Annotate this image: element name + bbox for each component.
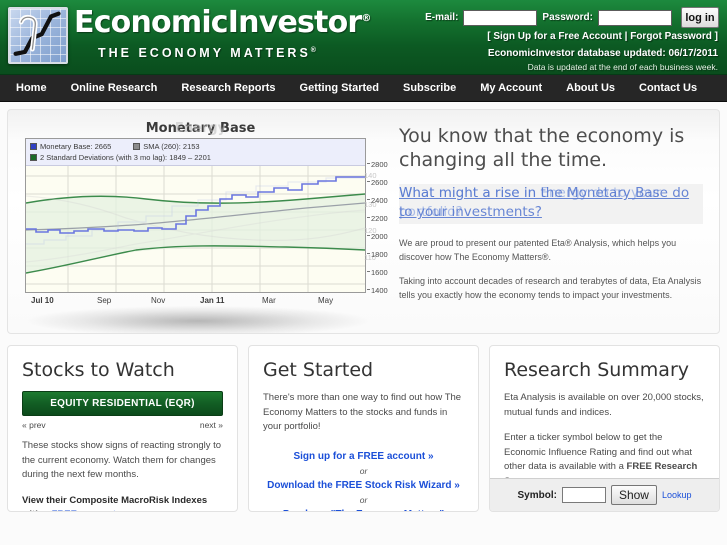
xtick-may: May [318,296,333,305]
ticker-button-eqr[interactable]: EQUITY RESIDENTIAL (EQR) [22,391,223,416]
site-header: EconomicInvestor® THE ECONOMY MATTERS® E… [0,0,727,75]
nav-item-research-reports[interactable]: Research Reports [169,75,287,102]
chart-y-axis: 2800 2600 2400 2200 2000 1800 1600 1400 [367,138,395,295]
password-label: Password: [542,12,593,23]
chart-svg [26,166,365,292]
next-ticker-link[interactable]: next » [200,420,223,430]
login-form: E-mail: Password: log in [425,7,719,28]
free-account-link[interactable]: FREE account [52,509,116,512]
nav-item-online-research[interactable]: Online Research [59,75,170,102]
xtick-mar: Mar [262,296,276,305]
signup-free-account-link[interactable]: Sign up for a FREE account » [263,449,464,464]
card-get-started: Get Started There's more than one way to… [248,345,479,512]
brand-tagline: THE ECONOMY MATTERS® [98,46,371,60]
symbol-input[interactable] [562,487,606,503]
hero-subhead-current[interactable]: What might a rise in the Monetary Base d… [399,184,703,222]
ytick-1800: 1800 [371,250,388,259]
chart-reflection-shadow [28,306,368,334]
legend-swatch-sma-icon [133,143,140,150]
hero-paragraph-1: We are proud to present our patented Eta… [399,236,703,264]
legend-swatch-monetary-base-icon [30,143,37,150]
get-started-cta-list: Sign up for a FREE account » or Download… [263,449,464,513]
legend-label-monetary-base: Monetary Base: 2665 [40,141,111,152]
update-frequency-note: Data is updated at the end of each busin… [528,62,718,72]
brand[interactable]: EconomicInvestor® THE ECONOMY MATTERS® [74,2,371,60]
ytick-2000: 2000 [371,232,388,241]
hero-paragraph-2: Taking into account decades of research … [399,274,703,302]
chart-plot-area [26,166,365,292]
nav-item-about-us[interactable]: About Us [554,75,627,102]
nav-item-getting-started[interactable]: Getting Started [288,75,391,102]
get-started-title: Get Started [263,359,464,381]
hero-headline: You know that the economy is changing al… [399,124,703,172]
tagline-registered-mark: ® [311,47,316,54]
brand-name-text: EconomicInvestor [74,5,361,40]
hero-subhead-rotator[interactable]: What might a rise in Energy do to your p… [399,184,703,224]
hero-chart-area: Energy Monetary Base Monetary Base: 2665… [8,110,393,333]
prev-ticker-link[interactable]: « prev [22,420,46,430]
card-row: Stocks to Watch EQUITY RESIDENTIAL (EQR)… [7,345,720,512]
xtick-sep: Sep [97,296,111,305]
card-stocks-to-watch: Stocks to Watch EQUITY RESIDENTIAL (EQR)… [7,345,238,512]
or-separator-1: or [263,464,464,478]
research-summary-title: Research Summary [504,359,705,381]
legend-swatch-stddev-icon [30,154,37,161]
ytick-1600: 1600 [371,268,388,277]
symbol-lookup-bar: Symbol: Show Lookup [490,478,719,511]
lookup-link[interactable]: Lookup [662,490,692,500]
main-navigation: Home Online Research Research Reports Ge… [0,75,727,102]
chart-title-ghost: Energy [8,121,393,136]
brand-name: EconomicInvestor® [74,2,371,40]
email-input[interactable] [463,10,537,26]
xtick-nov: Nov [151,296,165,305]
ytick-2600: 2600 [371,178,388,187]
hero-copy-area: You know that the economy is changing al… [393,110,719,333]
ytick-2200: 2200 [371,214,388,223]
xtick-jan-11: Jan 11 [200,296,224,305]
get-started-body: There's more than one way to find out ho… [263,391,464,435]
ytick-1400: 1400 [371,286,388,295]
legend-label-standard-deviations: 2 Standard Deviations (with 3 mo lag): 1… [40,152,211,163]
stocks-to-watch-title: Stocks to Watch [22,359,223,381]
research-summary-body-1: Eta Analysis is available on over 20,000… [504,391,705,420]
xtick-jul-10: Jul 10 [31,296,54,305]
nav-item-my-account[interactable]: My Account [468,75,554,102]
stocks-to-watch-body: These stocks show signs of reacting stro… [22,439,223,483]
ticker-pagination: « prev next » [22,420,223,430]
stocks-footer-suffix: . [116,509,119,512]
chart-title: Energy Monetary Base [8,121,393,136]
account-links[interactable]: [ Sign Up for a Free Account | Forgot Pa… [487,31,718,42]
purchase-reports-link[interactable]: Purchase "The Economy Matters" Reports » [263,507,464,513]
or-separator-2: or [263,493,464,507]
log-in-button[interactable]: log in [681,7,719,28]
page-body: Energy Monetary Base Monetary Base: 2665… [0,102,727,545]
ytick-2400: 2400 [371,196,388,205]
brand-tagline-text: THE ECONOMY MATTERS [98,46,311,60]
password-input[interactable] [598,10,672,26]
ytick-2800: 2800 [371,160,388,169]
card-research-summary: Research Summary Eta Analysis is availab… [489,345,720,512]
legend-row-1: Monetary Base: 2665 SMA (260): 2153 [30,141,361,152]
logo-eta-chart-glyph [10,9,66,62]
nav-item-subscribe[interactable]: Subscribe [391,75,468,102]
legend-row-2: 2 Standard Deviations (with 3 mo lag): 1… [30,152,361,163]
download-stock-risk-wizard-link[interactable]: Download the FREE Stock Risk Wizard » [263,478,464,493]
stocks-to-watch-footer: View their Composite MacroRisk Indexes w… [22,494,223,513]
nav-item-home[interactable]: Home [4,75,59,102]
show-button[interactable]: Show [611,485,657,505]
logo-icon[interactable] [8,7,68,64]
chart-legend: Monetary Base: 2665 SMA (260): 2153 2 St… [26,139,365,166]
database-updated-text: EconomicInvestor database updated: 06/17… [488,48,718,59]
legend-label-sma: SMA (260): 2153 [143,141,199,152]
symbol-label: Symbol: [517,490,556,501]
hero-panel: Energy Monetary Base Monetary Base: 2665… [7,109,720,334]
email-label: E-mail: [425,12,458,23]
nav-item-contact-us[interactable]: Contact Us [627,75,709,102]
monetary-base-chart[interactable]: Monetary Base: 2665 SMA (260): 2153 2 St… [25,138,366,293]
brand-registered-mark: ® [361,13,370,24]
